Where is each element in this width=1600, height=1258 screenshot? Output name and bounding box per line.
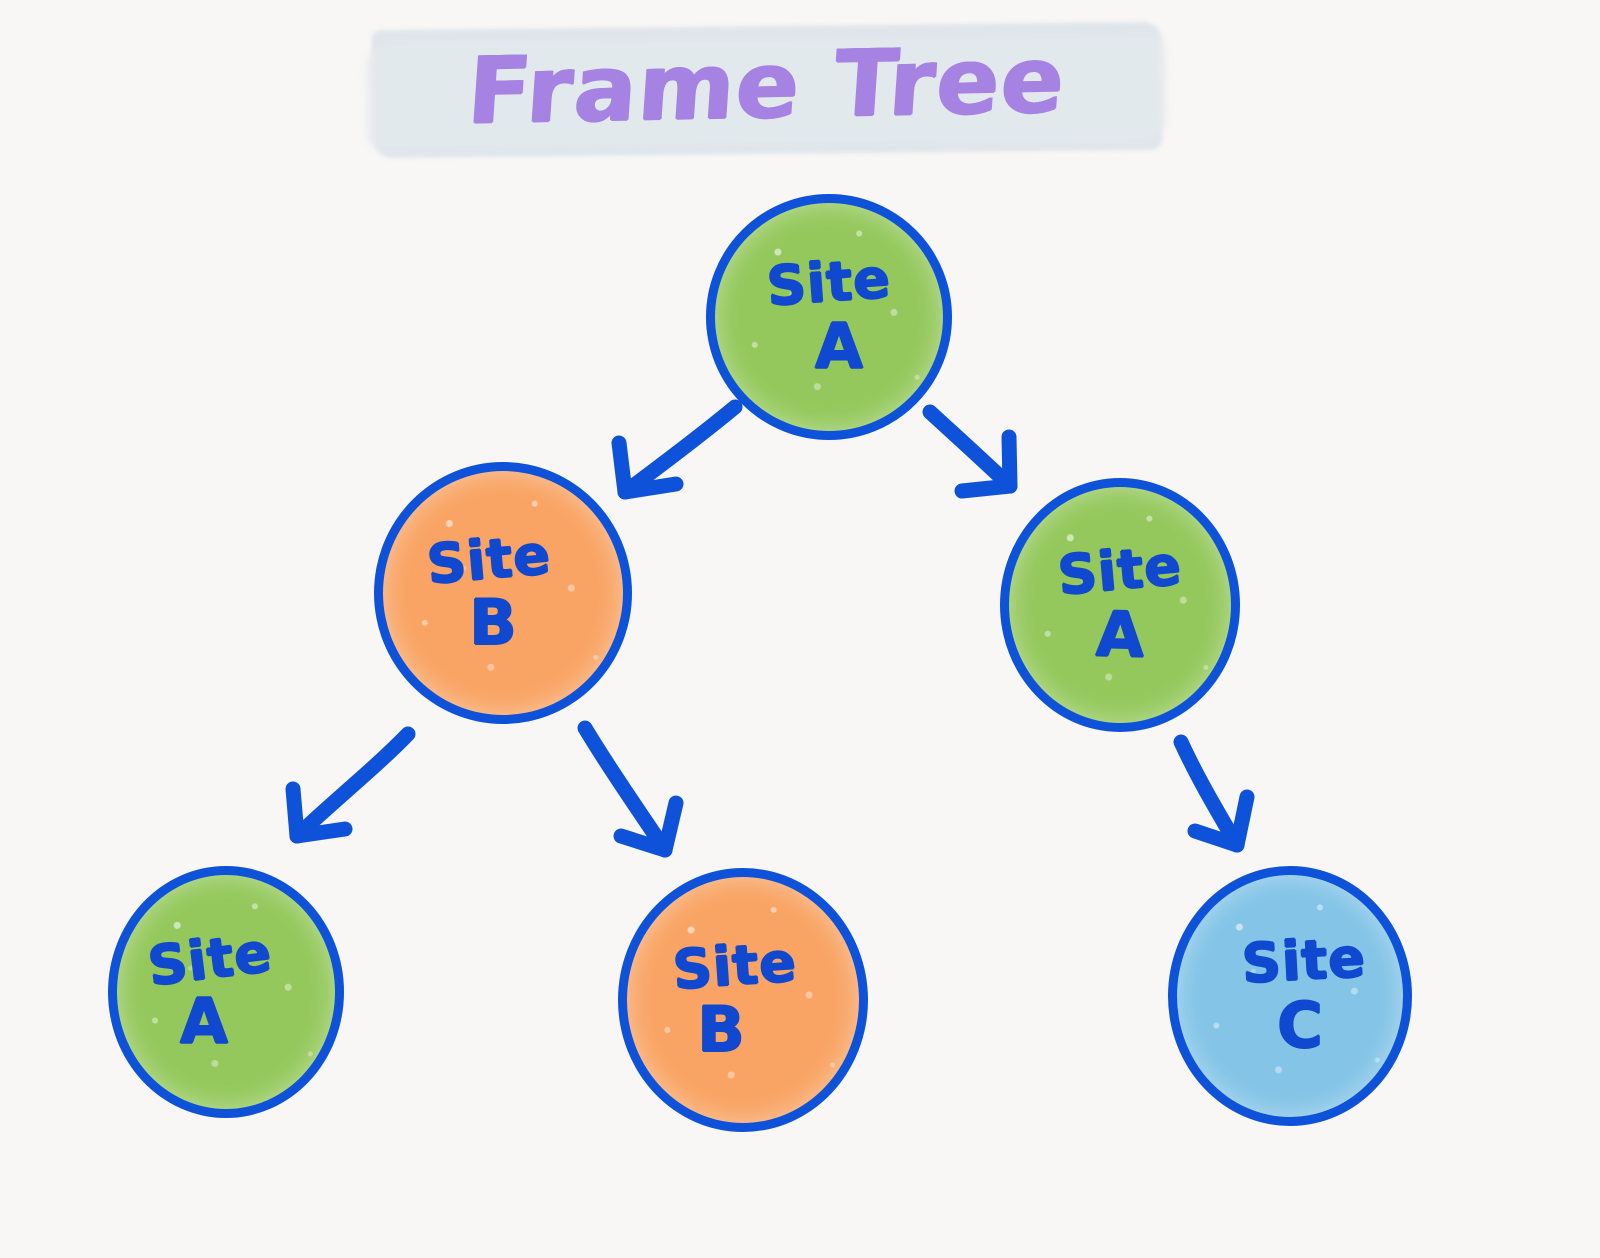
node-id-label: B	[697, 999, 744, 1061]
node-id-label: C	[1277, 995, 1323, 1057]
edge-site-b-to-site-a-bl	[293, 734, 408, 836]
node-site-a-level2-left[interactable]: Site A	[108, 866, 344, 1118]
edge-site-a-right-to-site-c	[1181, 742, 1247, 845]
node-site-label: Site	[145, 926, 275, 995]
node-site-label: Site	[671, 935, 798, 998]
node-id-label: A	[1095, 603, 1145, 666]
node-site-label: Site	[1241, 931, 1368, 991]
node-id-label: A	[815, 316, 863, 378]
node-site-b-level2-middle[interactable]: Site B	[618, 868, 868, 1132]
node-id-label: A	[180, 991, 228, 1053]
node-site-label: Site	[1056, 539, 1184, 604]
node-site-label: Site	[425, 528, 553, 593]
edge-site-b-to-site-b-bm	[585, 728, 676, 850]
diagram-title: Frame Tree	[372, 18, 1172, 160]
node-site-a-level1-right[interactable]: Site A	[1000, 478, 1240, 732]
node-site-c-level2-right[interactable]: Site C	[1168, 866, 1412, 1126]
node-site-b-level1[interactable]: Site B	[374, 462, 632, 724]
frame-tree-diagram: Frame Tree	[0, 0, 1600, 1258]
node-site-label: Site	[765, 252, 892, 315]
title-text: Frame Tree	[368, 24, 1165, 146]
node-id-label: B	[469, 592, 516, 654]
node-site-a-root[interactable]: Site A	[706, 194, 952, 440]
